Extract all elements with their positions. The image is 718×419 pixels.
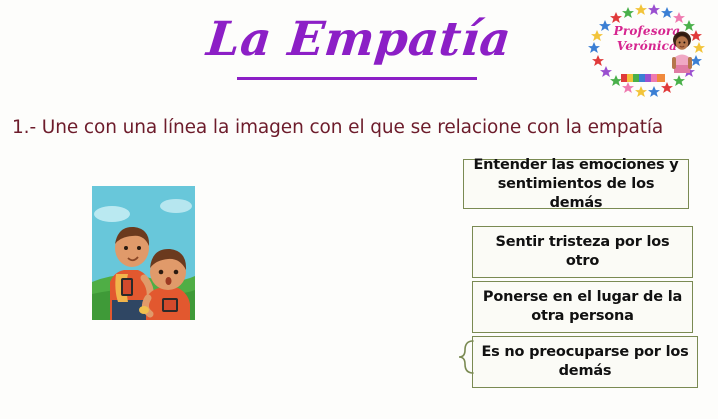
logo-color-swatch bbox=[621, 74, 665, 82]
teacher-avatar-icon bbox=[669, 30, 695, 74]
empathy-illustration bbox=[92, 186, 195, 320]
brace-icon bbox=[457, 340, 475, 374]
answer-option-4[interactable]: Es no preocuparse por los demás bbox=[472, 336, 698, 388]
answer-option-3[interactable]: Ponerse en el lugar de la otra persona bbox=[472, 281, 693, 333]
answer-option-1[interactable]: Entender las emociones y sentimientos de… bbox=[463, 159, 689, 209]
page-title-text: La Empatía bbox=[204, 14, 513, 66]
instruction-text: 1.- Une con una línea la imagen con el q… bbox=[12, 116, 706, 140]
worksheet-page: La Empatía bbox=[0, 0, 718, 419]
answer-option-2[interactable]: Sentir tristeza por los otro bbox=[472, 226, 693, 278]
teacher-logo: Profesora Verónica bbox=[583, 4, 711, 100]
title-underline bbox=[237, 77, 477, 80]
